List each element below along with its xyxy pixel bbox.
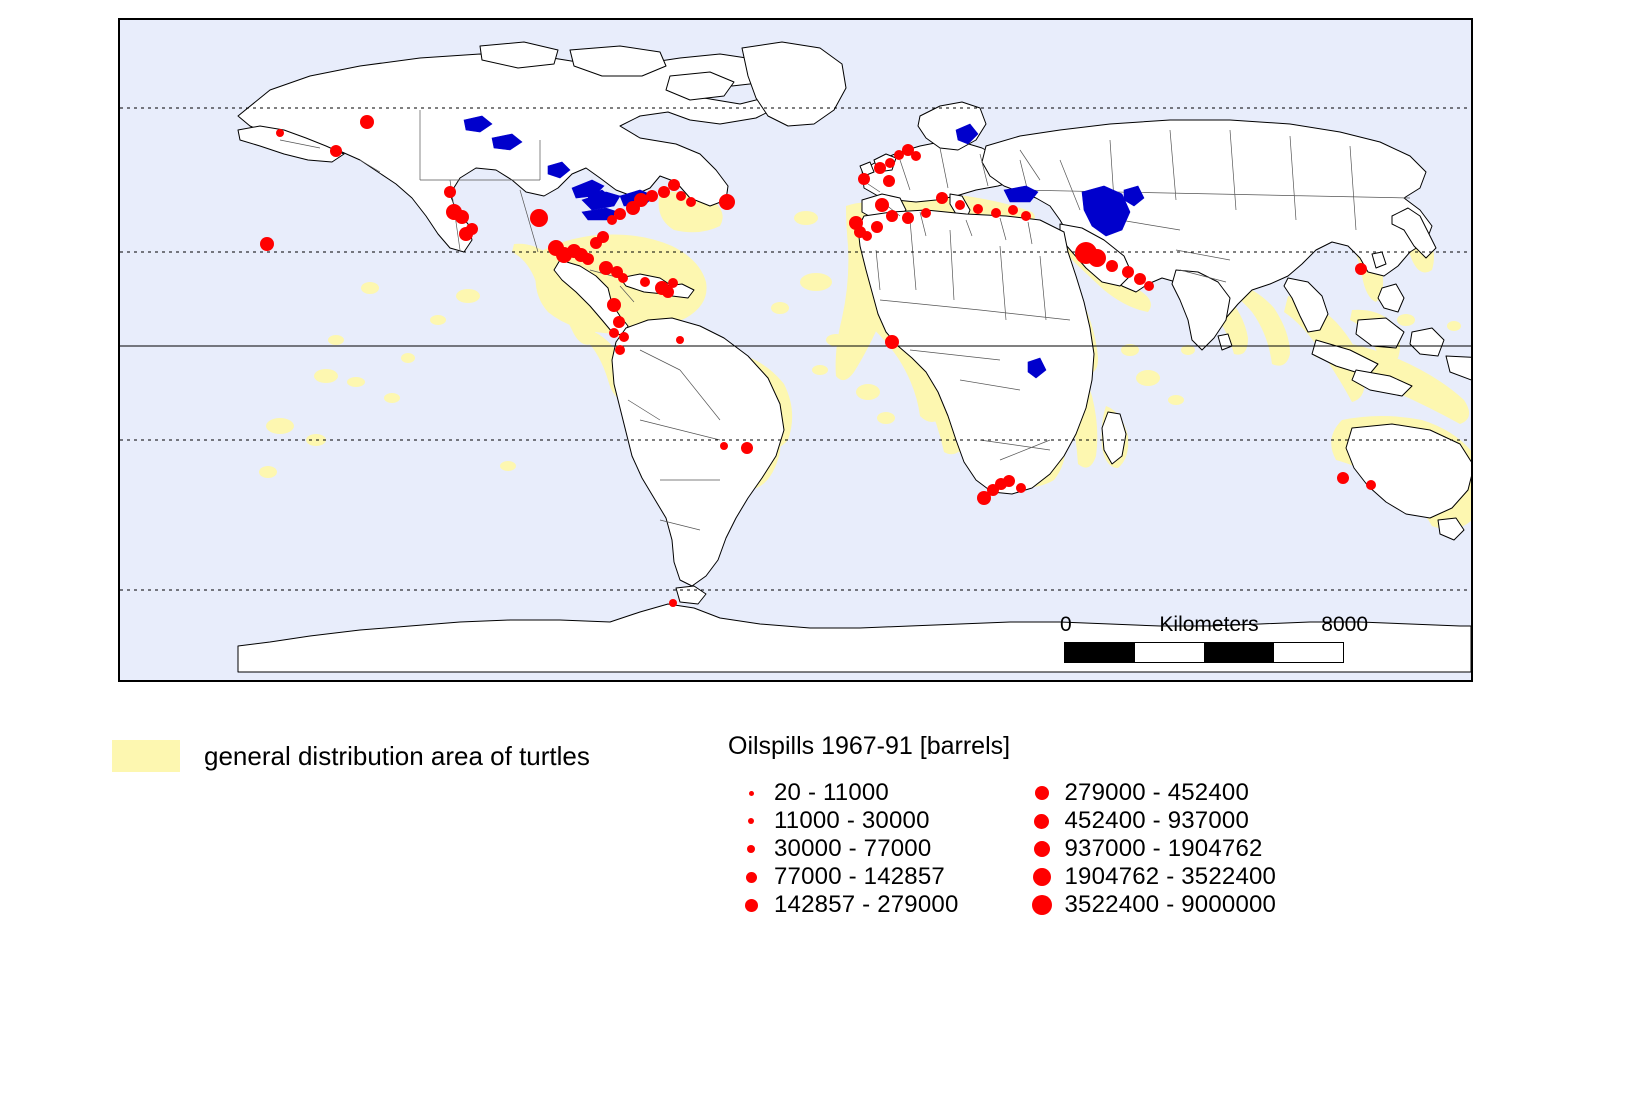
oilspill-point (1122, 266, 1134, 278)
oilspill-legend-dot (747, 845, 755, 853)
oilspill-point (1008, 205, 1018, 215)
oilspill-point (276, 129, 284, 137)
oilspill-legend-dot-cell (1019, 814, 1065, 829)
oilspill-legend-row: 279000 - 452400 (1019, 779, 1277, 807)
oilspill-legend-label: 30000 - 77000 (774, 835, 931, 863)
oilspill-point (955, 200, 965, 210)
oilspill-point (360, 115, 374, 129)
scale-segment-2 (1135, 643, 1205, 662)
oilspill-legend-dot-cell (728, 791, 774, 796)
oilspill-point (741, 442, 753, 454)
oilspill-legend-dot-cell (728, 872, 774, 883)
oilspill-point (599, 261, 613, 275)
oilspill-legend-dot (748, 818, 754, 824)
oilspill-legend-dot (749, 791, 754, 796)
oilspill-point (619, 332, 629, 342)
oilspill-legend-dot (1035, 786, 1049, 800)
oilspill-point (582, 253, 594, 265)
oilspill-point (658, 186, 670, 198)
oilspill-point (260, 237, 274, 251)
oilspill-point (455, 210, 469, 224)
scale-max-label: 8000 (1321, 610, 1368, 640)
oilspill-legend-row: 20 - 11000 (728, 779, 959, 807)
oilspill-point (936, 192, 948, 204)
oilspill-point (444, 186, 456, 198)
scale-bar: 0 Kilometers 8000 (1064, 610, 1354, 670)
oilspill-point (886, 210, 898, 222)
oilspill-legend-title: Oilspills 1967-91 [barrels] (728, 732, 1276, 761)
oilspill-legend-label: 1904762 - 3522400 (1065, 863, 1277, 891)
world-map-svg (120, 20, 1471, 680)
oilspill-legend: Oilspills 1967-91 [barrels] 20 - 1100011… (728, 732, 1276, 919)
oilspill-point (1355, 263, 1367, 275)
oilspill-legend-row: 77000 - 142857 (728, 863, 959, 891)
oilspill-legend-label: 77000 - 142857 (774, 863, 945, 891)
oilspill-legend-dot (1034, 841, 1050, 857)
oilspill-point (615, 345, 625, 355)
scale-bar-bars (1064, 642, 1344, 663)
oilspill-point (676, 336, 684, 344)
oilspill-point (640, 277, 650, 287)
oilspill-point (875, 198, 889, 212)
oilspill-point (618, 273, 628, 283)
map-canvas[interactable]: 0 Kilometers 8000 (120, 20, 1471, 680)
oilspill-legend-dot-cell (1019, 786, 1065, 800)
oilspill-point (668, 278, 678, 288)
oilspill-point (530, 209, 548, 227)
oilspill-legend-label: 142857 - 279000 (774, 891, 959, 919)
oilspill-point (607, 298, 621, 312)
oilspill-legend-row: 937000 - 1904762 (1019, 835, 1277, 863)
oilspill-point (719, 194, 735, 210)
oilspill-legend-label: 452400 - 937000 (1065, 807, 1250, 835)
oilspill-point (911, 151, 921, 161)
oilspill-point (646, 190, 658, 202)
oilspill-point (676, 191, 686, 201)
oilspill-point (597, 231, 609, 243)
oilspill-legend-row: 452400 - 937000 (1019, 807, 1277, 835)
scale-segment-4 (1274, 643, 1344, 662)
oilspill-legend-dot (1032, 895, 1052, 915)
oilspill-legend-dot-cell (1019, 841, 1065, 857)
oilspill-point (1016, 483, 1026, 493)
oilspill-point (686, 197, 696, 207)
turtle-area-swatch (112, 740, 180, 772)
scale-min-label: 0 (1060, 610, 1072, 640)
oilspill-point (614, 208, 626, 220)
oilspill-point (1337, 472, 1349, 484)
oilspill-point (921, 208, 931, 218)
oilspill-point (1003, 475, 1015, 487)
oilspill-point (1021, 211, 1031, 221)
oilspill-point (858, 173, 870, 185)
oilspill-point (1366, 480, 1376, 490)
map-frame: 0 Kilometers 8000 (118, 18, 1473, 682)
oilspill-point (466, 223, 478, 235)
oilspill-point (902, 212, 914, 224)
oilspill-legend-row: 30000 - 77000 (728, 835, 959, 863)
oilspill-point (885, 158, 895, 168)
map-legend: general distribution area of turtles Oil… (0, 700, 1644, 940)
oilspill-point (973, 204, 983, 214)
oilspill-legend-dot (745, 899, 758, 912)
oilspill-legend-dot-cell (728, 818, 774, 824)
oilspill-point (330, 145, 342, 157)
oilspill-legend-label: 937000 - 1904762 (1065, 835, 1263, 863)
oilspill-legend-label: 20 - 11000 (774, 779, 889, 807)
oilspill-point (874, 162, 886, 174)
oilspill-legend-column-right: 279000 - 452400452400 - 937000937000 - 1… (1019, 779, 1277, 919)
oilspill-point (1134, 273, 1146, 285)
oilspill-legend-column-left: 20 - 1100011000 - 3000030000 - 770007700… (728, 779, 959, 919)
oilspill-point (885, 335, 899, 349)
oilspill-legend-label: 279000 - 452400 (1065, 779, 1250, 807)
scale-segment-1 (1065, 643, 1135, 662)
turtle-distribution-legend: general distribution area of turtles (112, 740, 590, 772)
oilspill-legend-dot-cell (1019, 895, 1065, 915)
oilspill-legend-dot-cell (728, 899, 774, 912)
oilspill-point (609, 328, 619, 338)
oilspill-legend-dot (1033, 868, 1051, 886)
oilspill-point (991, 208, 1001, 218)
oilspill-point (1088, 249, 1106, 267)
oilspill-point (720, 442, 728, 450)
oilspill-point (871, 221, 883, 233)
oilspill-point (669, 599, 677, 607)
oilspill-legend-label: 11000 - 30000 (774, 807, 930, 835)
oilspill-legend-row: 11000 - 30000 (728, 807, 959, 835)
turtle-area-label: general distribution area of turtles (204, 741, 590, 772)
oilspill-legend-dot (1034, 814, 1049, 829)
oilspill-point (1106, 260, 1118, 272)
oilspill-point (883, 175, 895, 187)
oilspill-point (634, 193, 648, 207)
oilspill-legend-row: 3522400 - 9000000 (1019, 891, 1277, 919)
oilspill-legend-dot (746, 872, 757, 883)
oilspill-legend-row: 1904762 - 3522400 (1019, 863, 1277, 891)
oilspill-point (1144, 281, 1154, 291)
oilspill-legend-dot-cell (728, 845, 774, 853)
oilspill-point (613, 316, 625, 328)
scale-unit-label: Kilometers (1159, 610, 1258, 640)
oilspill-legend-dot-cell (1019, 868, 1065, 886)
oilspill-point (862, 231, 872, 241)
scale-segment-3 (1204, 643, 1274, 662)
oilspill-legend-row: 142857 - 279000 (728, 891, 959, 919)
oilspill-legend-label: 3522400 - 9000000 (1065, 891, 1277, 919)
scale-bar-labels: 0 Kilometers 8000 (1064, 610, 1354, 640)
oilspill-point (668, 179, 680, 191)
